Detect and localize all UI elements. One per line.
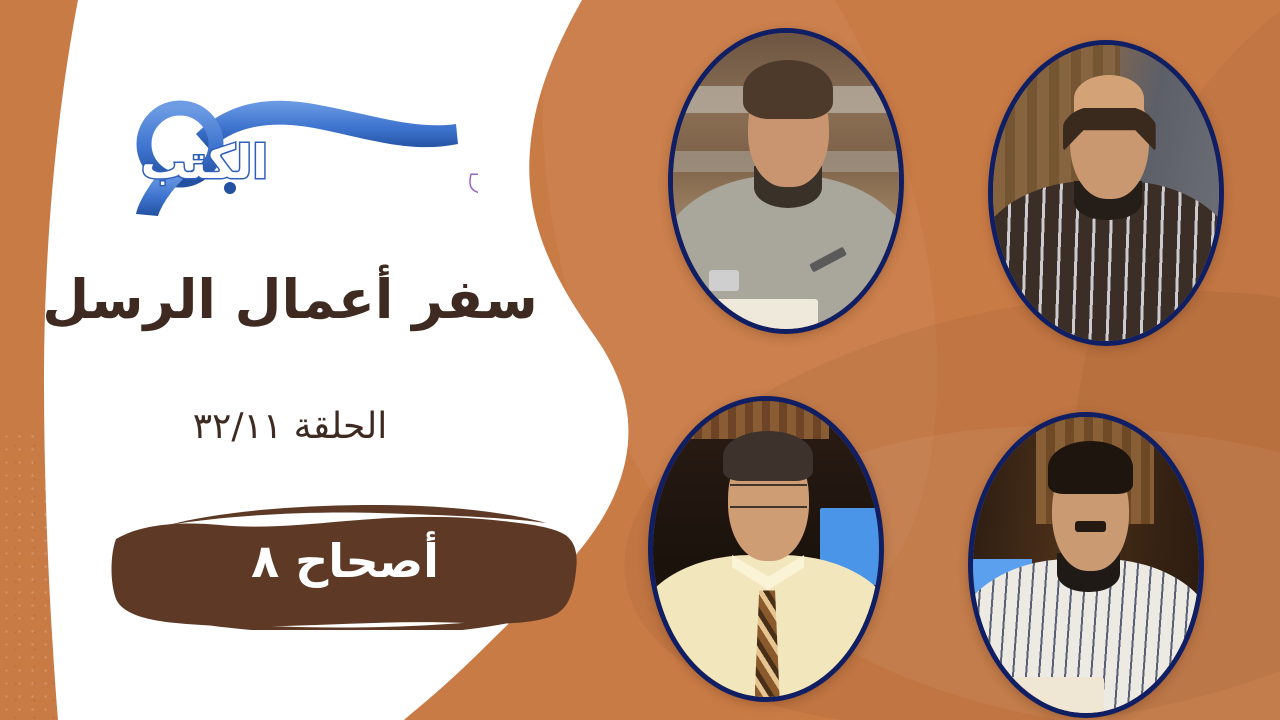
guest-photo-4: [968, 412, 1204, 718]
guest-photo-2: [988, 40, 1224, 346]
guest-photo-1: [668, 28, 904, 334]
logo: الكتب فاحصين: [118, 78, 478, 228]
chapter-badge-label: أصحاح ٨: [110, 495, 580, 630]
title-card: الكتب فاحصين سفر أعمال الرسل الحلقة ٣٢/١…: [0, 0, 1280, 720]
episode-label: الحلقة ٣٢/١١: [0, 406, 580, 447]
guest-photo-3: [648, 396, 884, 702]
logo-word-blue: الكتب: [141, 135, 268, 189]
logo-word-purple: فاحصين: [468, 142, 478, 193]
page-title: سفر أعمال الرسل: [0, 268, 580, 332]
chapter-badge: أصحاح ٨: [110, 495, 580, 630]
